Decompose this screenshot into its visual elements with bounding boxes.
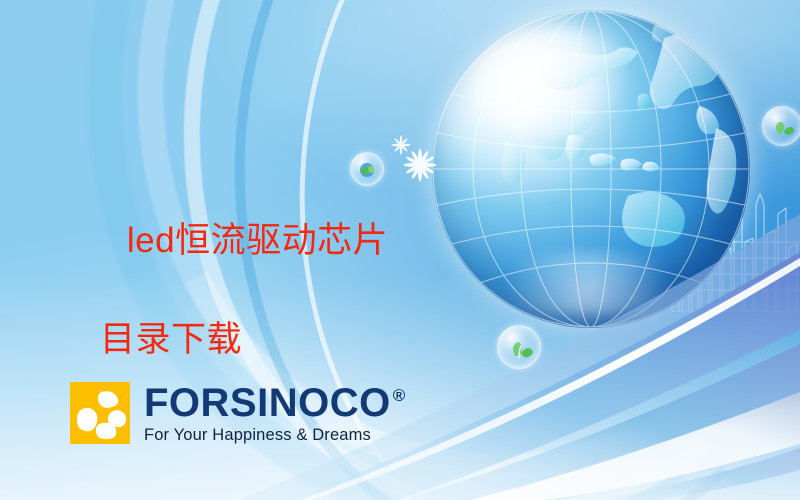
bubble-with-sprout-center: [497, 325, 541, 369]
headline-line-2: 目录下载: [100, 315, 486, 365]
green-sprout-icon: [498, 326, 540, 368]
headline-line-1: led恒流驱动芯片: [127, 221, 388, 260]
pinwheel-petals-icon: [70, 382, 130, 444]
four-petal-pinwheel-mark: [70, 382, 130, 444]
globe-highlight: [473, 29, 651, 137]
sparkle-burst-small: [391, 135, 411, 155]
green-sprout-icon: [763, 107, 800, 145]
brand-tagline: For Your Happiness & Dreams: [144, 426, 406, 445]
poster-canvas: led恒流驱动芯片 目录下载 FORSINOCO ® For Your Happ…: [0, 0, 800, 500]
globe-rim-light: [483, 252, 693, 316]
brand-logo: FORSINOCO ® For Your Happiness & Dreams: [70, 382, 406, 445]
bubble-with-sprout-right: [762, 106, 800, 146]
registered-trademark-icon: ®: [393, 387, 406, 404]
brand-name: FORSINOCO: [144, 384, 391, 423]
brand-wordmark: FORSINOCO ®: [144, 384, 406, 423]
